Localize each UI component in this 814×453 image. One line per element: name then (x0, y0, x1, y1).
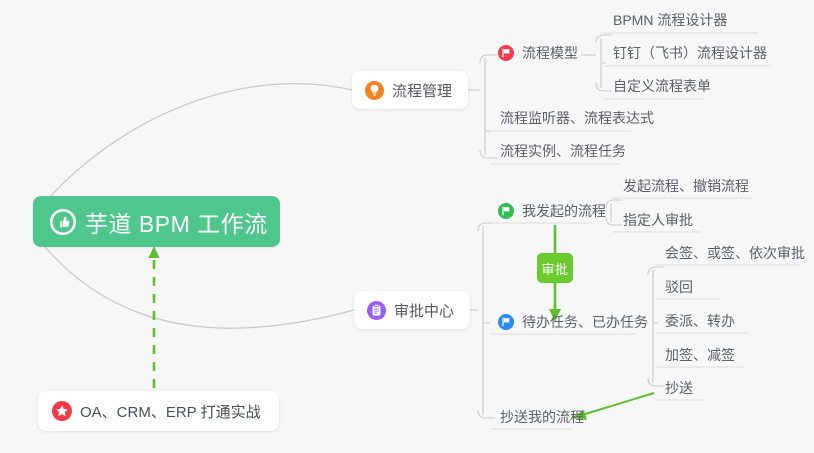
clipboard-icon (367, 301, 386, 320)
approval-badge: 审批 (537, 253, 573, 283)
arrow-oa-crm-erp-to-root (149, 246, 160, 388)
root-node[interactable]: 芋道 BPM 工作流 (33, 196, 280, 247)
approval-badge-label: 审批 (541, 259, 568, 278)
leaf-my-initiated-label: 我发起的流程 (522, 201, 606, 221)
leaf-start-cancel-process[interactable]: 发起流程、撤销流程 (613, 176, 759, 201)
node-shenpi-zhongxin[interactable]: 审批中心 (354, 291, 470, 329)
leaf-custom-process-form[interactable]: 自定义流程表单 (603, 76, 721, 101)
leaf-my-initiated[interactable]: 我发起的流程 (490, 201, 616, 226)
connector-liucheng-moxing-cap-top (596, 35, 612, 43)
leaf-countersign[interactable]: 会签、或签、依次审批 (655, 243, 814, 268)
leaf-liucheng-moxing-label: 流程模型 (522, 43, 578, 63)
leaf-liucheng-moxing[interactable]: 流程模型 (490, 43, 588, 68)
leaf-delegate-transfer[interactable]: 委派、转办 (655, 311, 745, 336)
node-shenpi-zhongxin-label: 审批中心 (394, 300, 454, 321)
star-icon (52, 401, 72, 421)
leaf-bpmn-designer[interactable]: BPMN 流程设计器 (603, 10, 737, 35)
flag-icon-red (498, 45, 514, 61)
leaf-cc[interactable]: 抄送 (655, 378, 703, 403)
node-liucheng-guanli-label: 流程管理 (392, 80, 452, 101)
mindmap-canvas: 芋道 BPM 工作流 流程管理 审批中心 (0, 0, 814, 453)
leaf-cc-to-me[interactable]: 抄送我的流程 (490, 407, 594, 432)
leaf-add-remove-sign[interactable]: 加签、减签 (655, 345, 745, 370)
connector-todo-cap-top (648, 267, 664, 275)
node-oa-crm-erp-label: OA、CRM、ERP 打通实战 (80, 401, 261, 422)
leaf-reject[interactable]: 驳回 (655, 277, 703, 302)
leaf-listener-expression[interactable]: 流程监听器、流程表达式 (490, 108, 664, 133)
leaf-todo-done-tasks-label: 待办任务、已办任务 (522, 312, 648, 332)
flag-icon-green (498, 203, 514, 219)
root-label: 芋道 BPM 工作流 (85, 205, 268, 239)
lightbulb-icon (365, 81, 384, 100)
flag-icon-blue (498, 314, 514, 330)
leaf-dingtalk-feishu-designer[interactable]: 钉钉（飞书）流程设计器 (603, 43, 777, 68)
node-liucheng-guanli[interactable]: 流程管理 (352, 71, 468, 109)
leaf-assignee-approval[interactable]: 指定人审批 (613, 210, 703, 235)
node-oa-crm-erp[interactable]: OA、CRM、ERP 打通实战 (38, 391, 279, 431)
leaf-todo-done-tasks[interactable]: 待办任务、已办任务 (490, 312, 658, 337)
thumbs-up-icon (50, 209, 76, 235)
leaf-instance-task[interactable]: 流程实例、流程任务 (490, 141, 636, 166)
